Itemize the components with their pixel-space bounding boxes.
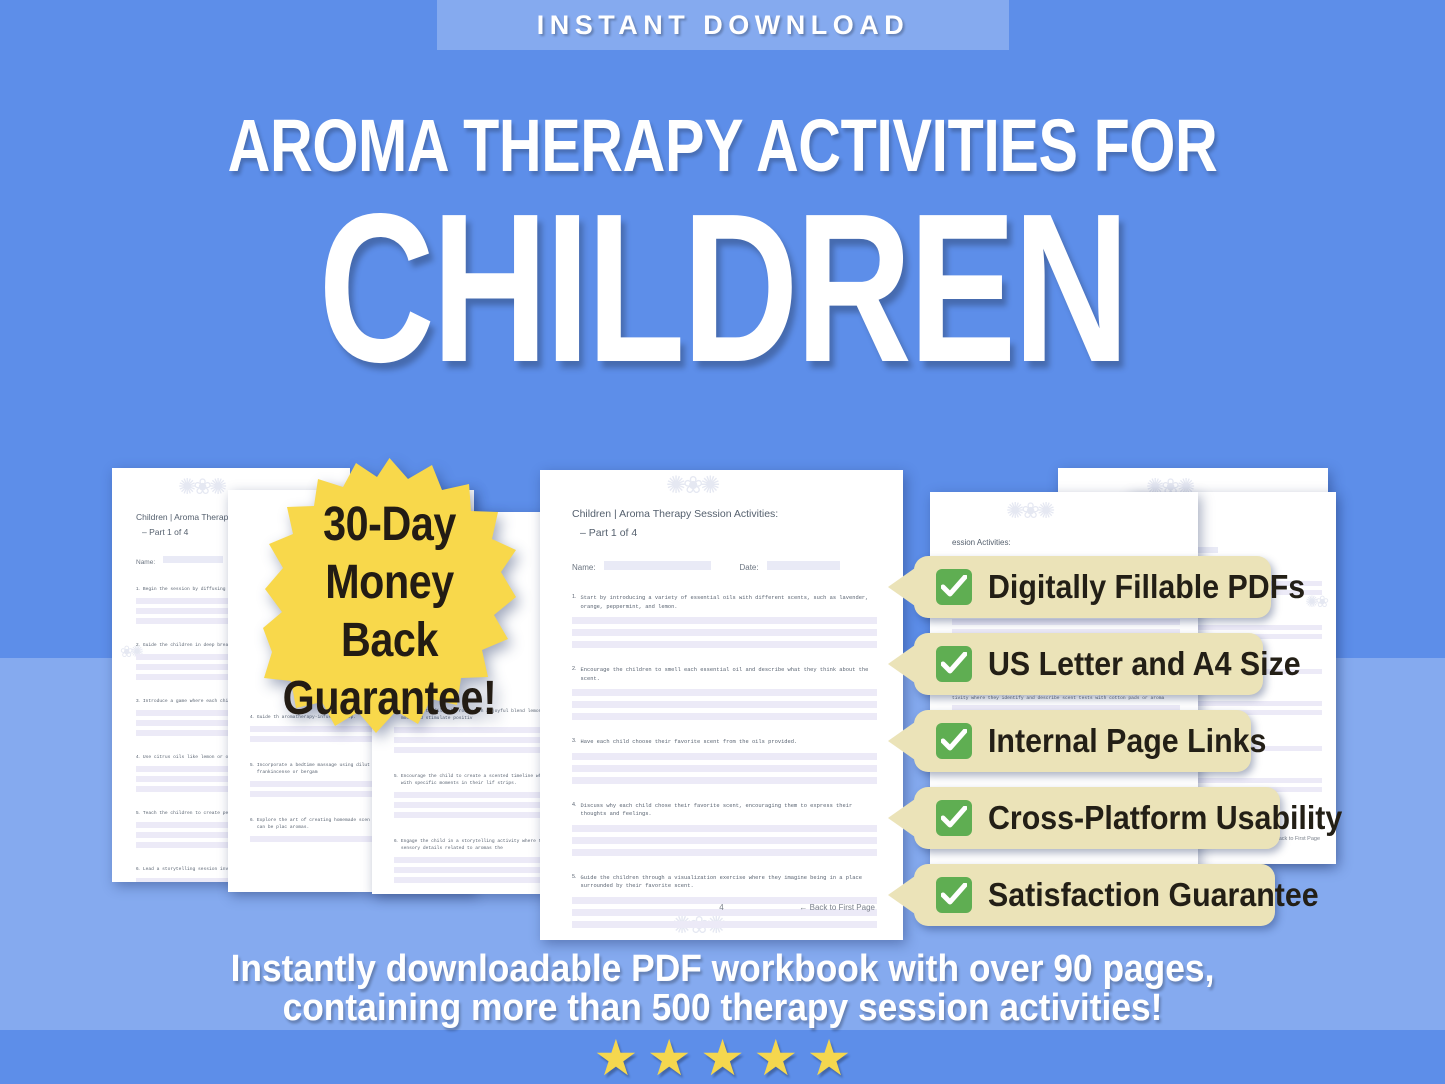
doc-item-text: Start by introducing a variety of essent… xyxy=(581,594,878,611)
feature-badge-digitally-fillable-pdfs[interactable]: Digitally Fillable PDFs xyxy=(914,556,1271,618)
name-label: Name: xyxy=(136,559,155,566)
answer-line[interactable] xyxy=(572,753,877,760)
feature-label: US Letter and A4 Size xyxy=(988,645,1301,683)
doc-item-text: tivity where they identify and describe … xyxy=(952,695,1180,702)
name-field[interactable] xyxy=(604,561,711,570)
star-icon: ★ xyxy=(807,1032,852,1084)
feature-label: Satisfaction Guarantee xyxy=(988,876,1319,914)
answer-line[interactable] xyxy=(572,713,877,720)
doc-item-text: Guide the children through a visualizati… xyxy=(581,874,878,891)
money-back-guarantee-badge: 30-Day Money Back Guarantee! xyxy=(263,456,516,738)
badge-line-3: Guarantee! xyxy=(281,670,499,728)
answer-line[interactable] xyxy=(572,849,877,856)
badge-line-1: 30-Day xyxy=(281,496,499,554)
doc-item-text: Have each child choose their favorite sc… xyxy=(581,738,798,747)
feature-label: Digitally Fillable PDFs xyxy=(988,568,1305,606)
date-field[interactable] xyxy=(767,561,840,570)
answer-line[interactable] xyxy=(572,629,877,636)
name-field[interactable] xyxy=(163,556,223,563)
document-page-front: ✺❀✺ ✺❀✺ Children | Aroma Therapy Session… xyxy=(540,470,903,940)
ornament-icon: ✺❀✺ xyxy=(1006,498,1052,524)
answer-line[interactable] xyxy=(572,837,877,844)
ornament-icon: ✺❀✺ xyxy=(666,471,717,500)
bottom-caption: Instantly downloadable PDF workbook with… xyxy=(51,950,1395,1028)
doc-item-text: Encourage the children to smell each ess… xyxy=(581,666,878,683)
instant-download-banner: INSTANT DOWNLOAD xyxy=(437,0,1009,50)
answer-line[interactable] xyxy=(572,765,877,772)
feature-badge-cross-platform-usability[interactable]: Cross-Platform Usability xyxy=(914,787,1280,849)
caption-line-1: Instantly downloadable PDF workbook with… xyxy=(51,950,1395,989)
feature-label: Cross-Platform Usability xyxy=(988,799,1342,837)
answer-line[interactable] xyxy=(572,689,877,696)
answer-line[interactable] xyxy=(572,617,877,624)
check-icon xyxy=(936,723,972,759)
ornament-icon: ✺❀✺ xyxy=(178,474,224,500)
check-icon xyxy=(936,646,972,682)
answer-line[interactable] xyxy=(572,777,877,784)
answer-line[interactable] xyxy=(572,825,877,832)
page-title: CHILDREN xyxy=(173,188,1271,388)
star-rating: ★ ★ ★ ★ ★ xyxy=(0,1032,1445,1084)
feature-badge-satisfaction-guarantee[interactable]: Satisfaction Guarantee xyxy=(914,864,1275,926)
star-icon: ★ xyxy=(594,1032,639,1084)
feature-badge-us-letter-and-a4-size[interactable]: US Letter and A4 Size xyxy=(914,633,1263,695)
star-icon: ★ xyxy=(700,1032,745,1084)
doc-back-link[interactable]: ← Back to First Page xyxy=(799,903,875,912)
caption-line-2: containing more than 500 therapy session… xyxy=(51,989,1395,1028)
star-icon: ★ xyxy=(753,1032,798,1084)
badge-text: 30-Day Money Back Guarantee! xyxy=(281,496,499,728)
star-icon: ★ xyxy=(647,1032,692,1084)
feature-badge-internal-page-links[interactable]: Internal Page Links xyxy=(914,710,1251,772)
name-label: Name: xyxy=(572,563,596,572)
answer-line[interactable] xyxy=(952,619,1180,625)
doc-item-text: Discuss why each child chose their favor… xyxy=(581,802,878,819)
instant-download-label: INSTANT DOWNLOAD xyxy=(537,10,909,41)
feature-label: Internal Page Links xyxy=(988,722,1266,760)
check-icon xyxy=(936,569,972,605)
check-icon xyxy=(936,877,972,913)
doc-heading: Children | Aroma Therapy Session Activit… xyxy=(572,508,877,520)
answer-line[interactable] xyxy=(572,641,877,648)
check-icon xyxy=(936,800,972,836)
answer-line[interactable] xyxy=(572,701,877,708)
doc-subheading: – Part 1 of 4 xyxy=(572,527,877,539)
doc-heading: ession Activities: xyxy=(952,538,1180,547)
answer-line[interactable] xyxy=(572,921,877,928)
badge-line-2: Money Back xyxy=(281,554,499,670)
date-label: Date: xyxy=(739,563,758,572)
